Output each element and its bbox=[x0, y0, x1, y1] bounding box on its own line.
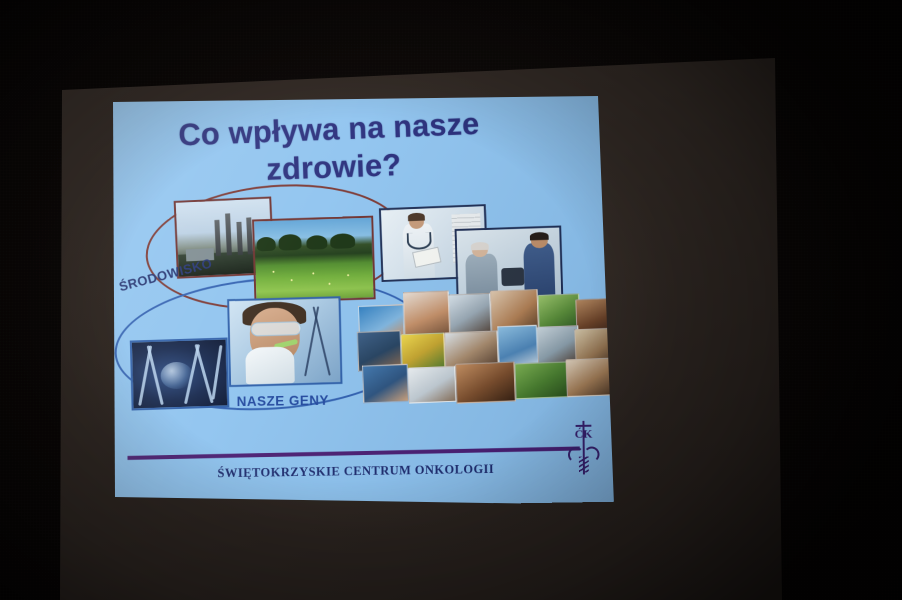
logo-letters: ĆK bbox=[566, 427, 602, 442]
lab-scientist-photo bbox=[227, 296, 342, 387]
collage-tile-jogging-path bbox=[362, 364, 409, 404]
dna-helix-image bbox=[132, 340, 228, 409]
lifestyle-collage bbox=[355, 278, 614, 407]
presentation-slide: Co wpływa na nasze zdrowie? bbox=[106, 87, 616, 510]
collage-tile-relaxing-woman bbox=[408, 366, 457, 404]
label-genes: NASZE GENY bbox=[237, 393, 329, 409]
collage-tile-laughing-faces bbox=[455, 362, 516, 404]
screenshot-root: Co wpływa na nasze zdrowie? bbox=[0, 0, 902, 600]
slide-title-line-1: Co wpływa na nasze bbox=[178, 106, 480, 153]
footer-divider-rule bbox=[127, 447, 579, 460]
sco-caduceus-logo: ĆK bbox=[566, 415, 602, 477]
dna-helix-photo bbox=[130, 338, 230, 411]
footer-organization-name: ŚWIĘTOKRZYSKIE CENTRUM ONKOLOGII bbox=[217, 462, 494, 481]
collage-tile-outdoor-green bbox=[514, 361, 568, 399]
logo-serpent-coil bbox=[579, 457, 589, 473]
slide-title-line-2: zdrowie? bbox=[266, 147, 402, 188]
dna-overlay-decoration bbox=[304, 303, 334, 377]
collage-tile-wellness bbox=[566, 357, 616, 397]
lab-scientist-image bbox=[229, 298, 340, 385]
